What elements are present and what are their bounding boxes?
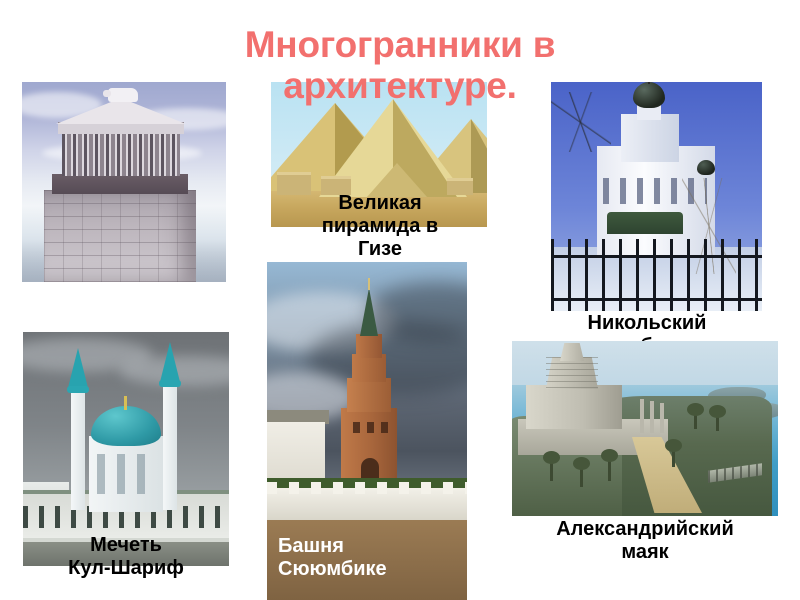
caption-lighthouse-of-alexandria: Александрийский маяк (500, 518, 790, 564)
image-st-nicholas-cathedral (551, 82, 762, 311)
image-mausoleum-at-halicarnassus (22, 82, 226, 282)
slide-title: Многогранники в архитектуре. (228, 24, 572, 107)
lighthouse-illustration (512, 341, 778, 516)
presentation-slide: Многогранники в архитектуре. Галикарнасс… (0, 0, 800, 600)
caption-soyembika-tower: Башня Сююмбике (268, 535, 468, 581)
mausoleum-illustration (22, 82, 226, 282)
image-lighthouse-of-alexandria (512, 341, 778, 516)
mosque-illustration (23, 332, 229, 566)
cathedral-illustration (551, 82, 762, 311)
image-kul-sharif-mosque (23, 332, 229, 566)
caption-kul-sharif-mosque: Мечеть Кул-Шариф (8, 534, 244, 580)
caption-mausoleum-line1: Галикарнасский (8, 291, 240, 314)
caption-great-pyramid: Великая пирамида в Гизе (255, 192, 505, 260)
